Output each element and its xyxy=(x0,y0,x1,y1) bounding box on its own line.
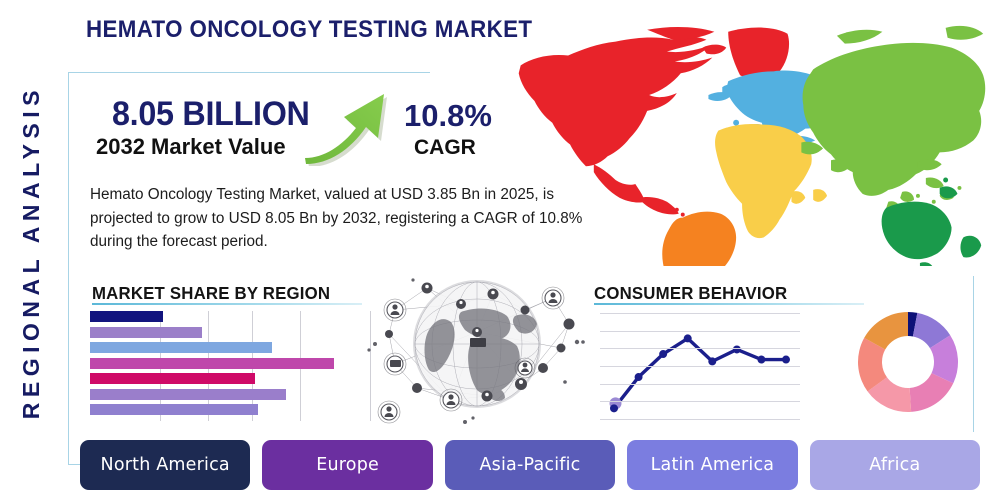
bar-chart-bar xyxy=(90,358,334,369)
region-button-europe[interactable]: Europe xyxy=(262,440,432,490)
bar-chart-bar xyxy=(90,342,272,353)
bar-chart-bars xyxy=(90,311,370,421)
gridline xyxy=(600,313,800,314)
region-button-asia-pacific[interactable]: Asia-Pacific xyxy=(445,440,615,490)
bar-chart-bar xyxy=(90,373,255,384)
global-network-icon xyxy=(365,272,587,427)
region-button-bar: North AmericaEuropeAsia-PacificLatin Ame… xyxy=(80,440,980,490)
segment-donut-chart xyxy=(856,310,960,414)
gridline xyxy=(600,419,800,420)
world-map-icon xyxy=(498,14,994,266)
infographic-root: REGIONAL ANALYSIS HEMATO ONCOLOGY TESTIN… xyxy=(0,0,1000,500)
regional-analysis-side-label: REGIONAL ANALYSIS xyxy=(8,55,54,450)
market-share-rule xyxy=(92,303,362,305)
market-share-heading: MARKET SHARE BY REGION xyxy=(92,283,330,304)
side-label-text: REGIONAL ANALYSIS xyxy=(18,85,45,419)
page-title: HEMATO ONCOLOGY TESTING MARKET xyxy=(86,16,532,44)
market-value-figure: 8.05 BILLION xyxy=(112,95,310,134)
bar-chart-bar xyxy=(90,327,202,338)
region-button-north-america[interactable]: North America xyxy=(80,440,250,490)
growth-arrow-icon xyxy=(300,84,396,166)
consumer-behavior-rule xyxy=(594,303,864,305)
gridline xyxy=(600,348,800,349)
gridline xyxy=(600,384,800,385)
line-chart-gridlines xyxy=(600,310,800,422)
gridline xyxy=(600,401,800,402)
bar-chart-bar xyxy=(90,404,258,415)
consumer-behavior-line-chart xyxy=(600,310,800,422)
consumer-behavior-heading: CONSUMER BEHAVIOR xyxy=(594,283,787,304)
cagr-caption: CAGR xyxy=(414,136,476,160)
cagr-figure: 10.8% xyxy=(404,98,492,134)
gridline xyxy=(600,366,800,367)
bar-chart-bar xyxy=(90,389,286,400)
bar-chart-bar xyxy=(90,311,163,322)
region-button-latin-america[interactable]: Latin America xyxy=(627,440,797,490)
gridline xyxy=(600,331,800,332)
region-button-africa[interactable]: Africa xyxy=(810,440,980,490)
market-share-bar-chart xyxy=(90,311,370,421)
market-value-caption: 2032 Market Value xyxy=(96,134,286,160)
